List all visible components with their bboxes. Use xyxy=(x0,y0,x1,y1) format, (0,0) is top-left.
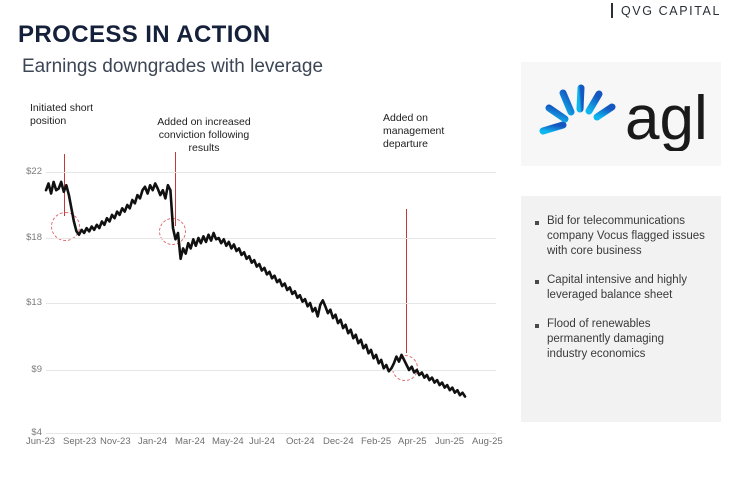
x-axis-tick-label: Jun-23 xyxy=(26,436,55,447)
gridline xyxy=(46,303,496,304)
list-item-label: Capital intensive and highly leveraged b… xyxy=(547,273,705,303)
highlight-circle-3 xyxy=(392,355,418,381)
x-axis-tick-label: Dec-24 xyxy=(323,436,354,447)
y-axis-tick-label: $9 xyxy=(2,364,42,375)
x-axis-tick-label: Oct-24 xyxy=(286,436,315,447)
list-item: Bid for telecommunications company Vocus… xyxy=(535,214,705,259)
x-axis-labels: Jun-23Sept-23Nov-23Jan-24Mar-24May-24Jul… xyxy=(26,436,496,452)
x-axis-tick-label: Feb-25 xyxy=(361,436,391,447)
list-item-label: Bid for telecommunications company Vocus… xyxy=(547,214,705,259)
slide-root: QVG CAPITAL PROCESS IN ACTION Earnings d… xyxy=(0,0,733,479)
highlight-circle-1 xyxy=(51,212,80,241)
y-axis-tick-label: $22 xyxy=(2,166,42,177)
x-axis-tick-label: May-24 xyxy=(212,436,244,447)
brand-name: QVG CAPITAL xyxy=(621,4,721,18)
x-axis-tick-label: Jan-24 xyxy=(138,436,167,447)
x-axis-tick-label: Jul-24 xyxy=(249,436,275,447)
agl-logo-text: agl xyxy=(625,84,708,151)
y-axis-tick-label: $13 xyxy=(2,297,42,308)
gridline xyxy=(46,433,496,434)
annotation-added-conviction: Added on increased conviction following … xyxy=(143,116,265,155)
x-axis-tick-label: Aug-25 xyxy=(472,436,503,447)
page-title: PROCESS IN ACTION xyxy=(18,21,271,49)
agl-logo: agl xyxy=(521,62,721,166)
y-axis-tick-label: $18 xyxy=(2,232,42,243)
page-subtitle: Earnings downgrades with leverage xyxy=(22,56,323,78)
annotation-leader-line-2 xyxy=(175,152,176,226)
y-axis-labels: $22$18$13$9$4 xyxy=(0,150,42,450)
gridline xyxy=(46,172,496,173)
gridline xyxy=(46,238,496,239)
annotation-added-management: Added on management departure xyxy=(383,112,479,151)
bullet-square-icon xyxy=(535,280,539,284)
list-item-label: Flood of renewables permanently damaging… xyxy=(547,317,705,362)
x-axis-tick-label: Apr-25 xyxy=(398,436,427,447)
x-axis-tick-label: Mar-24 xyxy=(175,436,205,447)
annotation-leader-line-3 xyxy=(406,209,407,353)
x-axis-tick-label: Nov-23 xyxy=(100,436,131,447)
list-item: Flood of renewables permanently damaging… xyxy=(535,317,705,362)
bullet-square-icon xyxy=(535,324,539,328)
agl-logo-mark: agl xyxy=(533,77,709,151)
brand-lockup: QVG CAPITAL xyxy=(611,3,721,18)
x-axis-tick-label: Jun-25 xyxy=(435,436,464,447)
x-axis-tick-label: Sept-23 xyxy=(63,436,96,447)
gridline xyxy=(46,370,496,371)
list-item: Capital intensive and highly leveraged b… xyxy=(535,273,705,303)
insights-panel: Bid for telecommunications company Vocus… xyxy=(521,196,721,422)
highlight-circle-2 xyxy=(159,218,186,245)
annotation-leader-line-1 xyxy=(64,154,65,216)
vertical-rule-icon xyxy=(611,3,613,18)
annotation-initiated-short: Initiated short position xyxy=(30,102,100,128)
bullet-square-icon xyxy=(535,221,539,225)
